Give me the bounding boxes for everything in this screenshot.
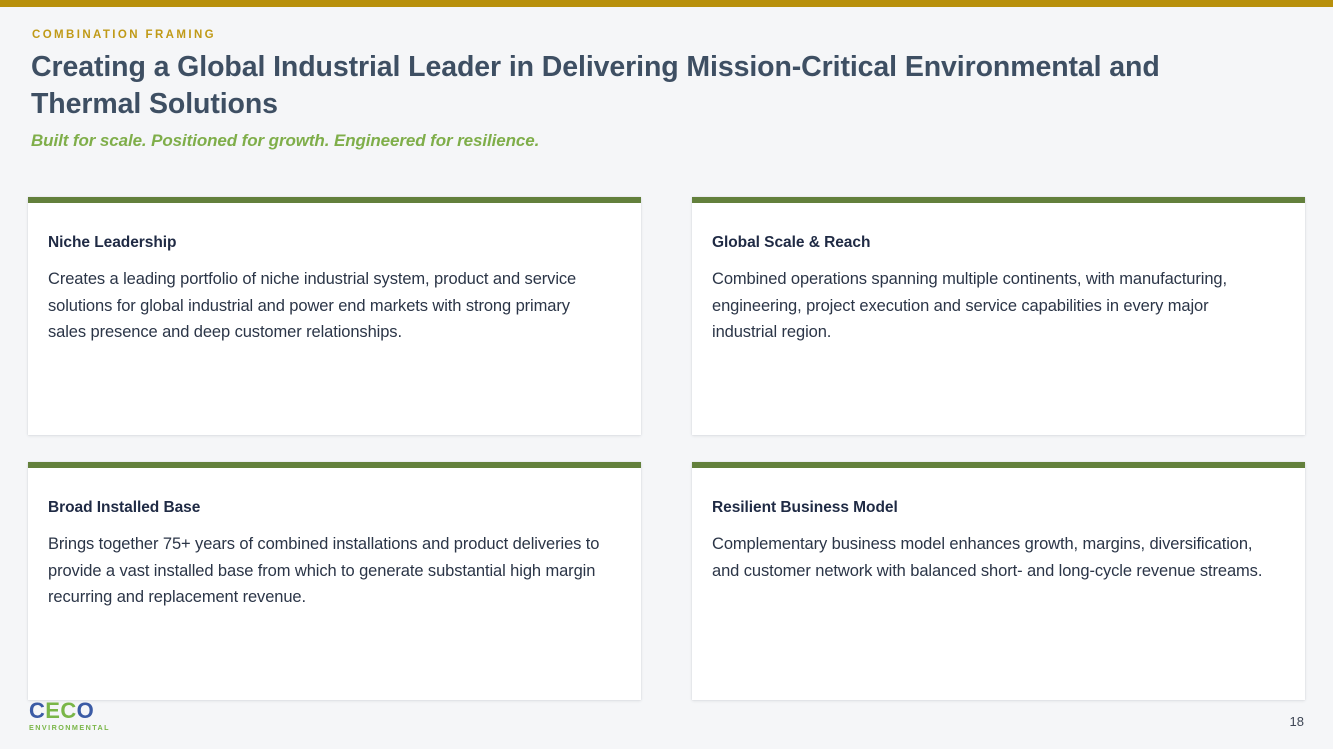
ceco-logo: CECO ENVIRONMENTAL bbox=[29, 700, 110, 733]
card-body: Brings together 75+ years of combined in… bbox=[48, 531, 609, 611]
card-title: Resilient Business Model bbox=[712, 498, 1273, 518]
card-title: Global Scale & Reach bbox=[712, 233, 1273, 253]
page-subtitle: Built for scale. Positioned for growth. … bbox=[31, 130, 1303, 152]
card-niche-leadership: Niche Leadership Creates a leading portf… bbox=[28, 197, 641, 435]
top-accent-bar bbox=[0, 0, 1333, 7]
slide-header: COMBINATION FRAMING Creating a Global In… bbox=[0, 7, 1333, 152]
card-title: Broad Installed Base bbox=[48, 498, 609, 518]
page-title: Creating a Global Industrial Leader in D… bbox=[31, 49, 1251, 123]
ceco-logo-letter-o: O bbox=[77, 698, 95, 723]
card-grid: Niche Leadership Creates a leading portf… bbox=[28, 197, 1305, 700]
card-global-scale-reach: Global Scale & Reach Combined operations… bbox=[692, 197, 1305, 435]
card-title: Niche Leadership bbox=[48, 233, 609, 253]
ceco-logo-wordmark: CECO bbox=[29, 700, 110, 722]
card-resilient-business-model: Resilient Business Model Complementary b… bbox=[692, 462, 1305, 700]
ceco-logo-tagline: ENVIRONMENTAL bbox=[29, 723, 110, 733]
slide-footer: CECO ENVIRONMENTAL 18 bbox=[0, 697, 1333, 749]
page-number: 18 bbox=[1290, 714, 1304, 730]
card-broad-installed-base: Broad Installed Base Brings together 75+… bbox=[28, 462, 641, 700]
ceco-logo-letter-c2: C bbox=[60, 698, 76, 723]
eyebrow-label: COMBINATION FRAMING bbox=[32, 28, 1303, 42]
ceco-logo-letter-e: E bbox=[45, 698, 60, 723]
card-body: Creates a leading portfolio of niche ind… bbox=[48, 266, 609, 346]
card-body: Complementary business model enhances gr… bbox=[712, 531, 1273, 584]
card-body: Combined operations spanning multiple co… bbox=[712, 266, 1273, 346]
ceco-logo-letter-c1: C bbox=[29, 698, 45, 723]
